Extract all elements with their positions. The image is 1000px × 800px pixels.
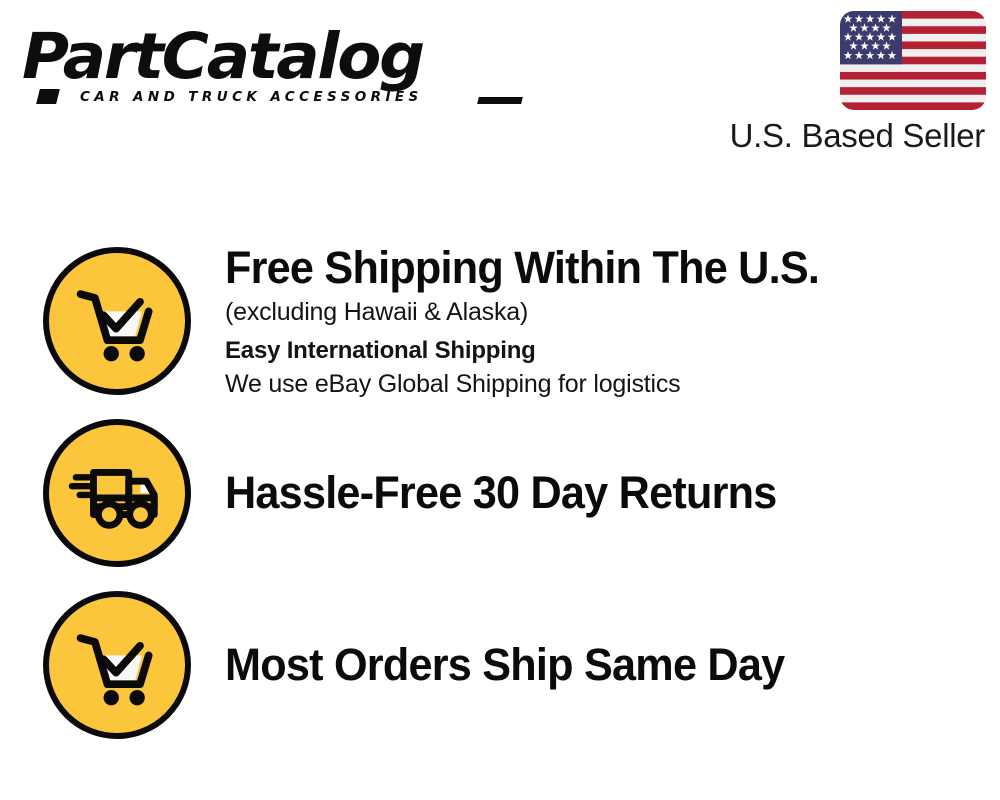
feature-text: Most Orders Ship Same Day bbox=[225, 639, 1000, 691]
feature-row: Most Orders Ship Same Day bbox=[0, 579, 1000, 751]
feature-title: Hassle-Free 30 Day Returns bbox=[225, 467, 777, 519]
delivery-truck-icon bbox=[43, 419, 191, 567]
logo-left-slash-icon bbox=[36, 89, 60, 104]
page-header: PartCatalog CAR AND TRUCK ACCESSORIES bbox=[0, 0, 1000, 170]
feature-title: Most Orders Ship Same Day bbox=[225, 639, 784, 691]
shopping-cart-check-icon bbox=[43, 247, 191, 395]
feature-subtitle: We use eBay Global Shipping for logistic… bbox=[225, 368, 980, 401]
feature-subtitle: (excluding Hawaii & Alaska) bbox=[225, 296, 980, 329]
feature-row: Free Shipping Within The U.S. (excluding… bbox=[0, 235, 1000, 407]
feature-subtitle: Easy International Shipping bbox=[225, 334, 980, 368]
brand-logo[interactable]: PartCatalog CAR AND TRUCK ACCESSORIES bbox=[22, 22, 492, 117]
feature-row: Hassle-Free 30 Day Returns bbox=[0, 407, 1000, 579]
brand-wordmark: PartCatalog bbox=[22, 22, 501, 92]
us-based-seller-label: U.S. Based Seller bbox=[640, 117, 985, 155]
feature-text: Free Shipping Within The U.S. (excluding… bbox=[225, 242, 1000, 401]
us-flag-icon bbox=[840, 11, 986, 110]
shopping-cart-check-icon bbox=[43, 591, 191, 739]
brand-tagline: CAR AND TRUCK ACCESSORIES bbox=[80, 89, 423, 105]
feature-list: Free Shipping Within The U.S. (excluding… bbox=[0, 235, 1000, 751]
feature-title: Free Shipping Within The U.S. bbox=[225, 242, 950, 294]
feature-text: Hassle-Free 30 Day Returns bbox=[225, 467, 1000, 519]
brand-tagline-row: CAR AND TRUCK ACCESSORIES bbox=[80, 88, 492, 110]
logo-right-slash-icon bbox=[477, 97, 523, 104]
